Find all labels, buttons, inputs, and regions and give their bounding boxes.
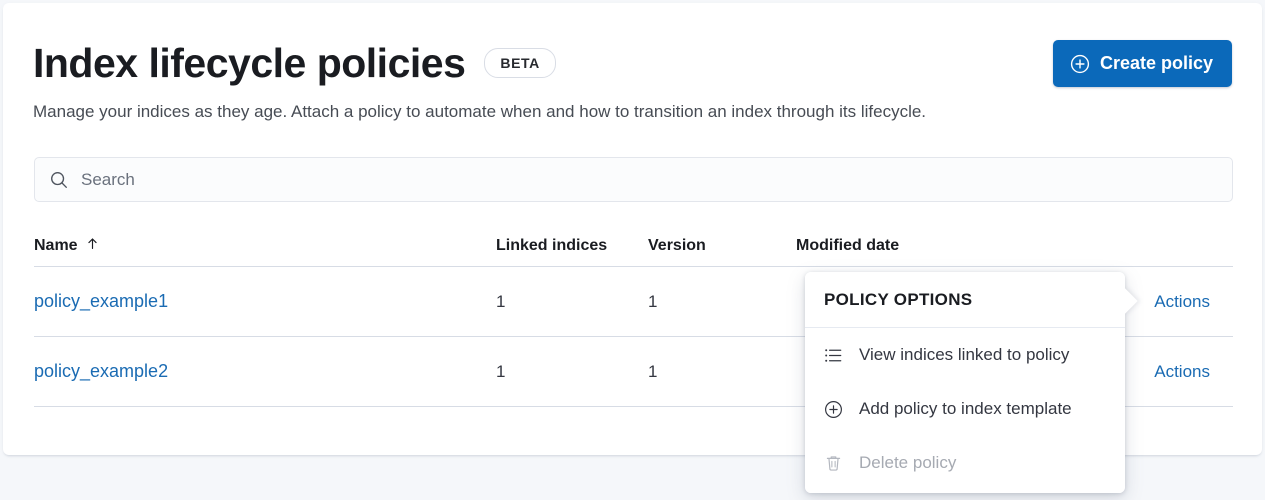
search-input[interactable]: Search	[81, 170, 135, 190]
popover-item-delete-policy: Delete policy	[805, 436, 1125, 490]
actions-link[interactable]: Actions	[1154, 362, 1210, 381]
table-header-row: Name Linked indices Version Modified dat…	[34, 225, 1233, 267]
page-subtitle: Manage your indices as they age. Attach …	[33, 100, 926, 124]
popover-item-add-to-template[interactable]: Add policy to index template	[805, 382, 1125, 436]
page-header: Index lifecycle policies BETA Create pol…	[33, 32, 1232, 94]
popover-item-label: Add policy to index template	[859, 399, 1072, 419]
policy-link[interactable]: policy_example1	[34, 291, 168, 311]
beta-badge: BETA	[484, 48, 555, 78]
plus-in-circle-icon	[824, 400, 843, 419]
column-header-modified-date[interactable]: Modified date	[796, 237, 1116, 255]
popover-title: POLICY OPTIONS	[805, 272, 1125, 328]
search-field[interactable]: Search	[34, 157, 1233, 202]
actions-link[interactable]: Actions	[1154, 292, 1210, 311]
create-policy-label: Create policy	[1100, 53, 1213, 74]
trash-icon	[824, 454, 843, 473]
popover-item-label: Delete policy	[859, 453, 956, 473]
column-header-name[interactable]: Name	[34, 236, 496, 256]
create-policy-button[interactable]: Create policy	[1053, 40, 1232, 87]
policy-options-popover: POLICY OPTIONS View indices linked to po…	[805, 272, 1125, 493]
popover-item-label: View indices linked to policy	[859, 345, 1069, 365]
linked-indices-cell: 1	[496, 292, 648, 312]
popover-item-view-indices[interactable]: View indices linked to policy	[805, 328, 1125, 382]
plus-in-circle-icon	[1070, 54, 1090, 74]
version-cell: 1	[648, 362, 796, 382]
popover-content: POLICY OPTIONS View indices linked to po…	[805, 272, 1125, 493]
list-icon	[824, 346, 843, 365]
policy-name-cell: policy_example1	[34, 291, 496, 312]
policy-link[interactable]: policy_example2	[34, 361, 168, 381]
column-header-version[interactable]: Version	[648, 237, 796, 255]
arrow-up-icon	[85, 236, 100, 256]
search-icon	[49, 170, 69, 190]
version-cell: 1	[648, 292, 796, 312]
row-actions-cell: Actions	[1116, 362, 1233, 382]
page-title: Index lifecycle policies	[33, 39, 465, 87]
policy-name-cell: policy_example2	[34, 361, 496, 382]
linked-indices-cell: 1	[496, 362, 648, 382]
column-header-linked-indices[interactable]: Linked indices	[496, 237, 648, 255]
column-header-name-label: Name	[34, 237, 78, 255]
